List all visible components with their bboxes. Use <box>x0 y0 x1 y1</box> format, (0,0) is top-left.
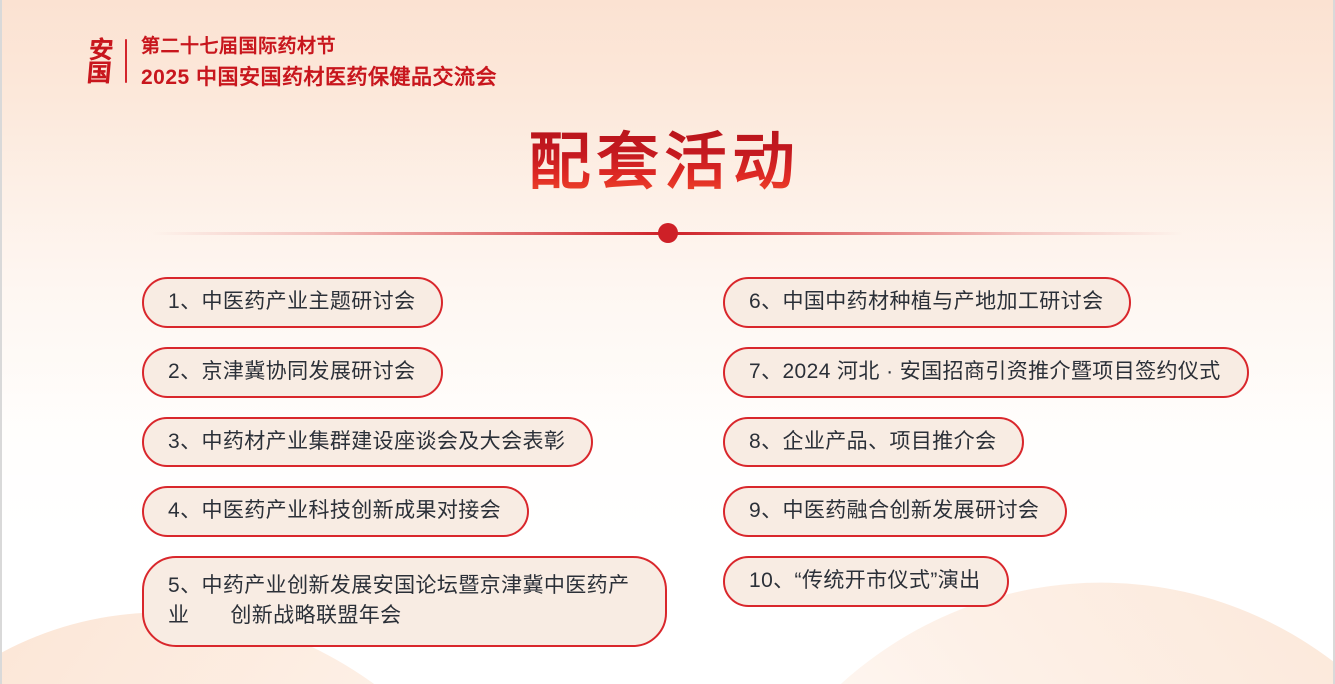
activity-item-9[interactable]: 9、中医药融合创新发展研讨会 <box>723 486 1067 537</box>
header-title-line2: 2025 中国安国药材医药保健品交流会 <box>141 61 497 91</box>
logo-char-bottom: 国 <box>86 61 112 84</box>
event-header: 安 国 第二十七届国际药材节 2025 中国安国药材医药保健品交流会 <box>88 31 497 91</box>
slide-root: 安 国 第二十七届国际药材节 2025 中国安国药材医药保健品交流会 配套活动 … <box>0 0 1335 684</box>
title-divider <box>2 223 1333 245</box>
activity-item-2[interactable]: 2、京津冀协同发展研讨会 <box>142 347 443 398</box>
anguo-logo-icon: 安 国 <box>86 38 114 84</box>
activity-item-6[interactable]: 6、中国中药材种植与产地加工研讨会 <box>723 277 1131 328</box>
activity-item-3[interactable]: 3、中药材产业集群建设座谈会及大会表彰 <box>142 417 593 468</box>
title-block: 配套活动 <box>2 128 1333 196</box>
activity-item-8[interactable]: 8、企业产品、项目推介会 <box>723 417 1024 468</box>
page-title: 配套活动 <box>528 128 806 196</box>
activity-item-4[interactable]: 4、中医药产业科技创新成果对接会 <box>142 486 529 537</box>
activity-item-7[interactable]: 7、2024 河北 · 安国招商引资推介暨项目签约仪式 <box>723 347 1249 398</box>
logo-divider <box>125 39 127 83</box>
activity-item-1[interactable]: 1、中医药产业主题研讨会 <box>142 277 443 328</box>
header-title-line1: 第二十七届国际药材节 <box>141 31 497 58</box>
activity-item-5[interactable]: 5、中药产业创新发展安国论坛暨京津冀中医药产业创新战略联盟年会 <box>142 556 667 647</box>
activity-item-10[interactable]: 10、“传统开市仪式”演出 <box>723 556 1009 607</box>
header-text-block: 第二十七届国际药材节 2025 中国安国药材医药保健品交流会 <box>141 31 497 91</box>
activities-right-column: 6、中国中药材种植与产地加工研讨会 7、2024 河北 · 安国招商引资推介暨项… <box>723 277 1249 647</box>
activity-item-5-line2: 创新战略联盟年会 <box>230 604 401 627</box>
activities-left-column: 1、中医药产业主题研讨会 2、京津冀协同发展研讨会 3、中药材产业集群建设座谈会… <box>142 277 667 647</box>
activities-container: 1、中医药产业主题研讨会 2、京津冀协同发展研讨会 3、中药材产业集群建设座谈会… <box>2 277 1333 647</box>
divider-dot-icon <box>658 223 678 243</box>
